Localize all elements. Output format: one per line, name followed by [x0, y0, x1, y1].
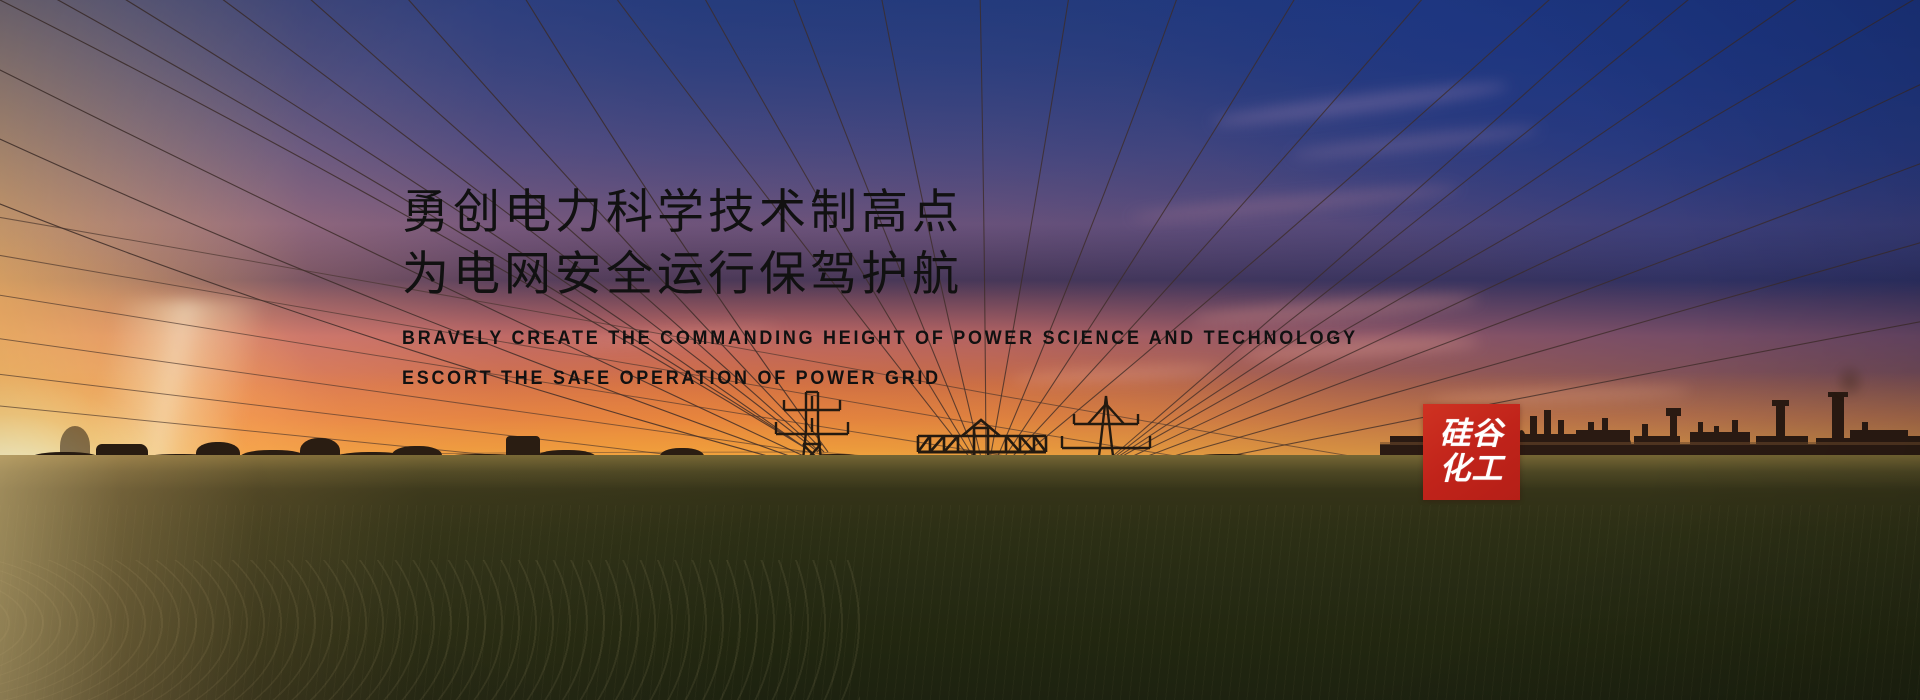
- subtitle-en-line-1: BRAVELY CREATE THE COMMANDING HEIGHT OF …: [402, 328, 1359, 348]
- logo-stamp-inner: 硅谷 化工: [1423, 404, 1520, 500]
- logo-text-line-2: 化工: [1440, 453, 1504, 486]
- logo-text-line-1: 硅谷: [1440, 418, 1504, 451]
- subtitle-en-line-2: ESCORT THE SAFE OPERATION OF POWER GRID: [402, 368, 1359, 388]
- hero-banner: 勇创电力科学技术制高点 为电网安全运行保驾护航 BRAVELY CREATE T…: [0, 0, 1920, 700]
- headline-cn-line-1: 勇创电力科学技术制高点: [402, 182, 1442, 244]
- field-sun-glow: [0, 455, 760, 700]
- chimney-smoke: [1830, 356, 1870, 406]
- hero-copy-block: 勇创电力科学技术制高点 为电网安全运行保驾护航 BRAVELY CREATE T…: [402, 182, 1442, 388]
- company-logo-stamp[interactable]: 硅谷 化工: [1423, 404, 1520, 500]
- headline-cn-line-2: 为电网安全运行保驾护航: [402, 244, 1442, 306]
